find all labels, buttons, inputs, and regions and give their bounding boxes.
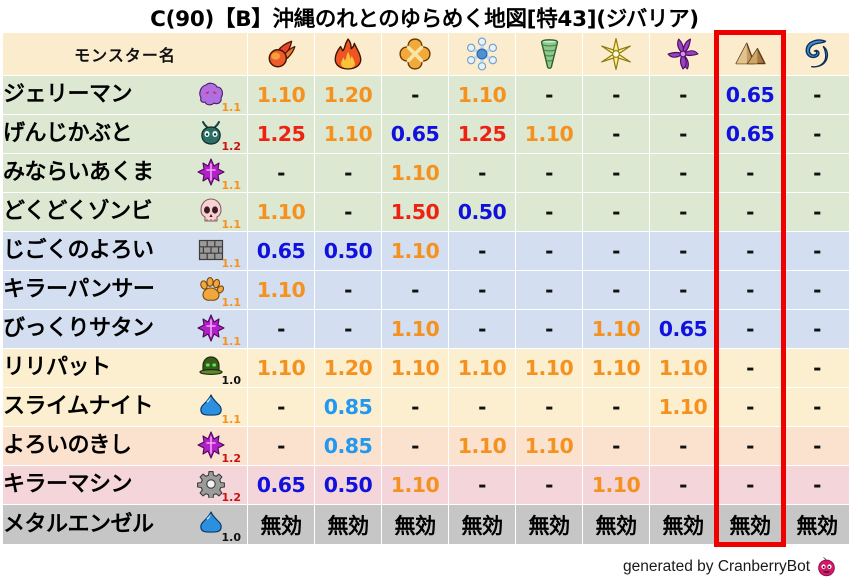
explosion-icon — [398, 37, 432, 71]
resistance-cell-bagi: - — [516, 232, 582, 270]
dark-swirl-icon — [666, 37, 700, 71]
table-row: よろいのきし 1.2-0.85-1.101.10---- — [3, 427, 849, 465]
resistance-cell-bagi: - — [516, 310, 582, 348]
monster-version-label: 1.0 — [222, 375, 242, 386]
resistance-cell-bagi: 1.10 — [516, 115, 582, 153]
monster-version-label: 1.1 — [222, 258, 242, 269]
table-row: メタルエンゼル 1.0無効無効無効無効無効無効無効無効無効 — [3, 505, 849, 544]
resistance-cell-doruma: - — [650, 271, 716, 309]
monster-name-cell[interactable]: キラーパンサー 1.1 — [3, 271, 247, 309]
monster-name-cell[interactable]: スライムナイト 1.1 — [3, 388, 247, 426]
resistance-cell-gira: - — [315, 310, 381, 348]
resistance-cell-mizu: - — [784, 115, 849, 153]
resistance-cell-io: 1.10 — [382, 349, 448, 387]
resistance-cell-bagi: - — [516, 466, 582, 504]
resistance-cell-io: 1.10 — [382, 466, 448, 504]
table-header: モンスター名 — [3, 33, 849, 75]
resistance-cell-gira: 無効 — [315, 505, 381, 544]
resistance-cell-dein: - — [583, 76, 649, 114]
resistance-cell-mera: - — [248, 310, 314, 348]
resistance-cell-bagi: - — [516, 76, 582, 114]
element-column-header-dein[interactable] — [583, 33, 649, 75]
resistance-cell-mera: 0.65 — [248, 466, 314, 504]
tornado-icon — [532, 37, 566, 71]
element-column-header-jibaria[interactable] — [717, 33, 783, 75]
resistance-cell-io: - — [382, 271, 448, 309]
monster-version-label: 1.1 — [222, 180, 242, 191]
table-row: ジェリーマン 1.11.101.20-1.10---0.65- — [3, 76, 849, 114]
table-body: ジェリーマン 1.11.101.20-1.10---0.65-げんじかぶと 1.… — [3, 76, 849, 544]
resistance-cell-mera: 1.10 — [248, 271, 314, 309]
monster-name-cell[interactable]: リリパット 1.0 — [3, 349, 247, 387]
resistance-cell-jibaria: - — [717, 388, 783, 426]
monster-version-label: 1.0 — [222, 532, 242, 543]
resistance-cell-io: - — [382, 388, 448, 426]
resistance-cell-io: - — [382, 76, 448, 114]
monster-version-label: 1.1 — [222, 102, 242, 113]
resistance-cell-gira: - — [315, 154, 381, 192]
resistance-cell-hyado: - — [449, 271, 515, 309]
resistance-cell-gira: 0.85 — [315, 427, 381, 465]
resistance-cell-bagi: 無効 — [516, 505, 582, 544]
element-column-header-gira[interactable] — [315, 33, 381, 75]
resistance-cell-gira: 1.20 — [315, 76, 381, 114]
light-star-icon — [599, 37, 633, 71]
resistance-cell-hyado: 1.10 — [449, 427, 515, 465]
table-row: リリパット 1.01.101.201.101.101.101.101.10-- — [3, 349, 849, 387]
resistance-cell-io: 1.10 — [382, 232, 448, 270]
resistance-cell-mizu: - — [784, 427, 849, 465]
cranberry-bot-icon — [816, 556, 837, 577]
monster-version-label: 1.1 — [222, 219, 242, 230]
resistance-cell-jibaria: - — [717, 310, 783, 348]
resistance-cell-mera: - — [248, 154, 314, 192]
resistance-cell-bagi: 1.10 — [516, 427, 582, 465]
resistance-cell-io: 1.10 — [382, 310, 448, 348]
resistance-cell-io: 0.65 — [382, 115, 448, 153]
footer-text: generated by CranberryBot — [623, 558, 810, 576]
monster-version-label: 1.1 — [222, 297, 242, 308]
resistance-cell-bagi: - — [516, 271, 582, 309]
water-wave-icon — [800, 37, 834, 71]
resistance-cell-mera: 0.65 — [248, 232, 314, 270]
element-column-header-mera[interactable] — [248, 33, 314, 75]
resistance-cell-mera: - — [248, 388, 314, 426]
resistance-cell-bagi: 1.10 — [516, 349, 582, 387]
resistance-cell-dein: - — [583, 271, 649, 309]
resistance-cell-doruma: - — [650, 232, 716, 270]
resistance-cell-hyado: - — [449, 232, 515, 270]
resistance-cell-gira: - — [315, 271, 381, 309]
resistance-cell-mizu: - — [784, 349, 849, 387]
resistance-cell-io: 1.10 — [382, 154, 448, 192]
resistance-cell-gira: 0.50 — [315, 466, 381, 504]
resistance-cell-mizu: - — [784, 154, 849, 192]
resistance-cell-mera: 無効 — [248, 505, 314, 544]
resistance-cell-mizu: - — [784, 193, 849, 231]
table-row: スライムナイト 1.1-0.85----1.10-- — [3, 388, 849, 426]
flame-icon — [331, 37, 365, 71]
resistance-cell-dein: - — [583, 232, 649, 270]
monster-version-label: 1.2 — [222, 492, 242, 503]
resistance-cell-doruma: 無効 — [650, 505, 716, 544]
resistance-cell-io: 無効 — [382, 505, 448, 544]
resistance-cell-jibaria: - — [717, 427, 783, 465]
map-resistance-table-page: C(90)【B】沖縄のれとのゆらめく地図[特43](ジバリア) モンスター名 — [0, 0, 849, 583]
resistance-cell-mera: 1.10 — [248, 193, 314, 231]
resistance-cell-gira: 1.10 — [315, 115, 381, 153]
resistance-cell-hyado: - — [449, 154, 515, 192]
resistance-cell-jibaria: - — [717, 349, 783, 387]
resistance-cell-jibaria: - — [717, 466, 783, 504]
resistance-cell-jibaria: 0.65 — [717, 115, 783, 153]
resistance-cell-mera: 1.10 — [248, 76, 314, 114]
resistance-cell-bagi: - — [516, 388, 582, 426]
resistance-cell-gira: 0.50 — [315, 232, 381, 270]
element-column-header-hyado[interactable] — [449, 33, 515, 75]
monster-name-cell[interactable]: びっくりサタン 1.1 — [3, 310, 247, 348]
header-row: モンスター名 — [3, 33, 849, 75]
table-row: びっくりサタン 1.1--1.10--1.100.65-- — [3, 310, 849, 348]
resistance-cell-dein: 1.10 — [583, 466, 649, 504]
monster-name-column-header: モンスター名 — [3, 33, 247, 75]
resistance-cell-dein: - — [583, 193, 649, 231]
resistance-cell-hyado: 無効 — [449, 505, 515, 544]
monster-name-cell[interactable]: メタルエンゼル 1.0 — [3, 505, 247, 544]
monster-version-label: 1.1 — [222, 336, 242, 347]
resistance-cell-gira: 0.85 — [315, 388, 381, 426]
meteor-fire-icon — [264, 37, 298, 71]
table-row: キラーパンサー 1.11.10-------- — [3, 271, 849, 309]
element-column-header-bagi[interactable] — [516, 33, 582, 75]
resistance-cell-jibaria: - — [717, 154, 783, 192]
resistance-table: モンスター名 — [2, 32, 849, 545]
resistance-cell-dein: - — [583, 427, 649, 465]
resistance-cell-bagi: - — [516, 193, 582, 231]
monster-version-label: 1.1 — [222, 414, 242, 425]
resistance-cell-hyado: - — [449, 388, 515, 426]
resistance-cell-hyado: 0.50 — [449, 193, 515, 231]
snowflake-icon — [465, 37, 499, 71]
resistance-cell-mizu: - — [784, 466, 849, 504]
resistance-cell-doruma: - — [650, 427, 716, 465]
resistance-cell-jibaria: - — [717, 232, 783, 270]
resistance-cell-bagi: - — [516, 154, 582, 192]
footer-credit: generated by CranberryBot — [623, 556, 837, 577]
monster-version-label: 1.2 — [222, 141, 242, 152]
resistance-cell-io: - — [382, 427, 448, 465]
resistance-cell-doruma: - — [650, 193, 716, 231]
resistance-cell-mera: - — [248, 427, 314, 465]
resistance-cell-io: 1.50 — [382, 193, 448, 231]
resistance-cell-gira: 1.20 — [315, 349, 381, 387]
monster-name-cell[interactable]: どくどくゾンビ 1.1 — [3, 193, 247, 231]
element-column-header-mizu[interactable] — [784, 33, 849, 75]
resistance-cell-jibaria: - — [717, 193, 783, 231]
resistance-cell-doruma: - — [650, 154, 716, 192]
monster-name-cell[interactable]: みならいあくま 1.1 — [3, 154, 247, 192]
resistance-cell-hyado: 1.10 — [449, 76, 515, 114]
resistance-cell-doruma: 1.10 — [650, 349, 716, 387]
monster-name-cell[interactable]: キラーマシン 1.2 — [3, 466, 247, 504]
resistance-cell-hyado: 1.25 — [449, 115, 515, 153]
resistance-cell-mizu: 無効 — [784, 505, 849, 544]
resistance-cell-dein: 1.10 — [583, 310, 649, 348]
resistance-cell-doruma: 0.65 — [650, 310, 716, 348]
element-column-header-io[interactable] — [382, 33, 448, 75]
monster-version-label: 1.2 — [222, 453, 242, 464]
resistance-cell-mizu: - — [784, 388, 849, 426]
table-row: じごくのよろい 1.10.650.501.10------ — [3, 232, 849, 270]
resistance-cell-mizu: - — [784, 232, 849, 270]
resistance-cell-hyado: - — [449, 310, 515, 348]
page-title: C(90)【B】沖縄のれとのゆらめく地図[特43](ジバリア) — [0, 2, 849, 33]
resistance-cell-dein: - — [583, 154, 649, 192]
resistance-cell-dein: 無効 — [583, 505, 649, 544]
mountain-icon — [733, 37, 767, 71]
resistance-cell-jibaria: - — [717, 271, 783, 309]
resistance-cell-jibaria: 0.65 — [717, 76, 783, 114]
resistance-cell-hyado: - — [449, 466, 515, 504]
resistance-cell-jibaria: 無効 — [717, 505, 783, 544]
element-column-header-doruma[interactable] — [650, 33, 716, 75]
table-row: げんじかぶと 1.21.251.100.651.251.10--0.65- — [3, 115, 849, 153]
resistance-cell-doruma: - — [650, 115, 716, 153]
resistance-cell-mizu: - — [784, 310, 849, 348]
table-row: キラーマシン 1.20.650.501.10--1.10--- — [3, 466, 849, 504]
monster-name-cell[interactable]: よろいのきし 1.2 — [3, 427, 247, 465]
resistance-cell-mizu: - — [784, 76, 849, 114]
resistance-cell-hyado: 1.10 — [449, 349, 515, 387]
monster-name-cell[interactable]: じごくのよろい 1.1 — [3, 232, 247, 270]
resistance-cell-doruma: - — [650, 76, 716, 114]
resistance-cell-doruma: - — [650, 466, 716, 504]
resistance-cell-doruma: 1.10 — [650, 388, 716, 426]
resistance-cell-gira: - — [315, 193, 381, 231]
resistance-cell-dein: 1.10 — [583, 349, 649, 387]
resistance-cell-mizu: - — [784, 271, 849, 309]
resistance-cell-dein: - — [583, 388, 649, 426]
table-row: どくどくゾンビ 1.11.10-1.500.50----- — [3, 193, 849, 231]
resistance-cell-dein: - — [583, 115, 649, 153]
resistance-cell-mera: 1.10 — [248, 349, 314, 387]
table-row: みならいあくま 1.1--1.10------ — [3, 154, 849, 192]
resistance-cell-mera: 1.25 — [248, 115, 314, 153]
monster-name-cell[interactable]: げんじかぶと 1.2 — [3, 115, 247, 153]
monster-name-cell[interactable]: ジェリーマン 1.1 — [3, 76, 247, 114]
